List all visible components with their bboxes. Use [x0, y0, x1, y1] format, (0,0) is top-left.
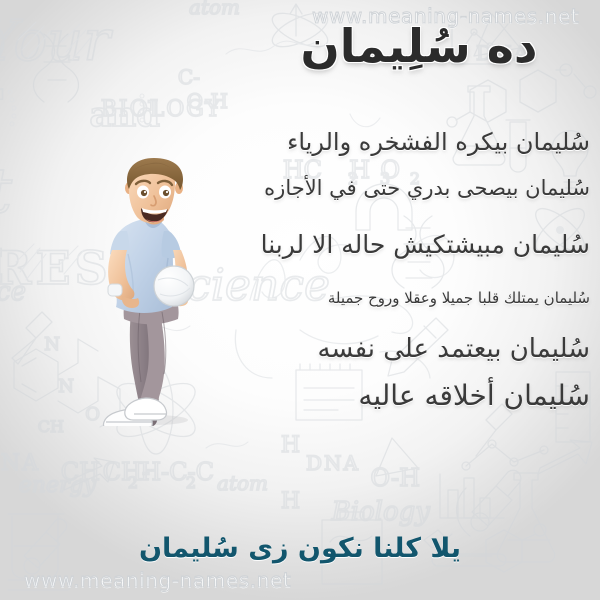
- phrase-list: سُليمان بيكره الفشخره والرياء سُليمان بي…: [178, 128, 590, 412]
- phrase-line-1: سُليمان بيكره الفشخره والرياء: [178, 128, 590, 156]
- svg-text:H-C-C: H-C-C: [140, 458, 214, 486]
- phrase-line-5: سُليمان بيعتمد على نفسه: [178, 334, 590, 364]
- svg-text:CH: CH: [38, 417, 64, 436]
- svg-text:Forget: Forget: [0, 154, 12, 227]
- svg-text:Biology: Biology: [331, 497, 431, 527]
- svg-text:-C: -C: [178, 65, 200, 89]
- svg-text:BIOLOGY: BIOLOGY: [101, 97, 222, 122]
- wristband: [108, 284, 122, 296]
- svg-text:O-H: O-H: [370, 464, 420, 492]
- svg-text:H: H: [281, 489, 300, 514]
- svg-text:Your: Your: [0, 9, 113, 74]
- svg-text:energy: energy: [19, 473, 97, 498]
- svg-text:CH: CH: [61, 458, 100, 486]
- call-to-action-text: يلا كلنا نكون زى سُليمان: [0, 533, 600, 564]
- phrase-line-2: سُليمان بيصحى بدري حتى في الأجازه: [178, 176, 590, 200]
- svg-text:-CH: -CH: [103, 458, 150, 486]
- svg-text:H: H: [281, 433, 300, 458]
- svg-text:O-H: O-H: [187, 89, 228, 113]
- svg-text:DO: DO: [0, 11, 8, 75]
- svg-text:2: 2: [186, 473, 196, 492]
- svg-text:N: N: [58, 376, 74, 397]
- name-meaning-card: DO Your BEST and Forget THE REST: [0, 0, 600, 600]
- svg-text:atom: atom: [189, 0, 240, 19]
- svg-text:ence: ence: [0, 277, 26, 307]
- watermark-bottom: www.meaning-names.net: [24, 568, 291, 592]
- svg-text:DNA: DNA: [306, 451, 360, 475]
- svg-text:2: 2: [128, 473, 138, 492]
- character-head: [125, 158, 183, 223]
- page-title: ده سُلِيمان: [250, 22, 588, 70]
- svg-text:atom: atom: [217, 471, 268, 495]
- svg-text:BEST: BEST: [0, 78, 6, 144]
- svg-text:N: N: [44, 334, 60, 355]
- phrase-line-3: سُليمان مبيشتكيش حاله الا لربنا: [178, 230, 590, 259]
- svg-text:and: and: [89, 95, 160, 135]
- svg-text:DNA: DNA: [0, 451, 40, 476]
- svg-text:THE: THE: [0, 239, 8, 293]
- phrase-line-6: سُليمان أخلاقه عاليه: [178, 379, 590, 412]
- phrase-line-4: سُليمان يمتلك قلبا جميلا وعقلا وروح جميل…: [178, 289, 590, 307]
